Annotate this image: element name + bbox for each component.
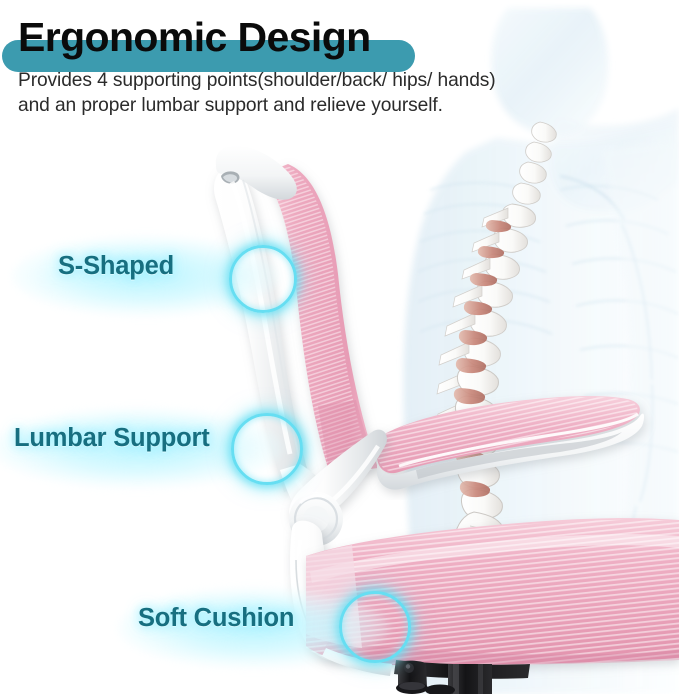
callout-ring-s-shaped xyxy=(229,245,297,313)
callout-label-soft-cushion: Soft Cushion xyxy=(138,604,294,633)
subtitle-line-2: and an proper lumbar support and relieve… xyxy=(18,94,638,119)
callout-ring-soft-cushion xyxy=(339,591,411,663)
header: Ergonomic Design Provides 4 supporting p… xyxy=(0,0,679,130)
callout-ring-lumbar-support xyxy=(231,413,303,485)
page-title-wrap: Ergonomic Design xyxy=(18,10,371,70)
subtitle: Provides 4 supporting points(shoulder/ba… xyxy=(18,69,638,118)
callout-label-lumbar-support: Lumbar Support xyxy=(14,424,210,453)
page-title: Ergonomic Design xyxy=(18,10,371,64)
callout-label-s-shaped: S-Shaped xyxy=(58,252,174,281)
subtitle-line-1: Provides 4 supporting points(shoulder/ba… xyxy=(18,69,638,94)
infographic-canvas: Ergonomic Design Provides 4 supporting p… xyxy=(0,0,679,694)
